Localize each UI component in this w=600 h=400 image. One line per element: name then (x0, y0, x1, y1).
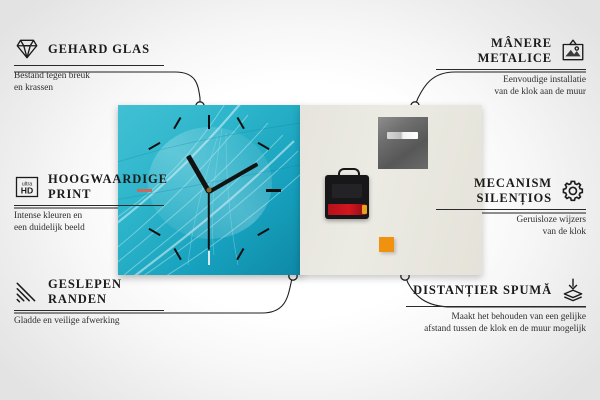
feature-body: Bestand tegen breuk en krassen (14, 70, 164, 95)
hanger-slot (387, 132, 418, 139)
clock-center-cap (207, 188, 212, 193)
battery (328, 204, 366, 215)
feature-hd-print: ultra HD HOOGWAARDIGE PRINT Intense kleu… (14, 172, 164, 234)
feature-body: Geruisloze wijzers van de klok (436, 214, 586, 239)
feature-title: MÂNERE METALICE (436, 36, 552, 66)
hanging-loop (338, 168, 360, 182)
feature-title: MECANISM SILENȚIOS (436, 176, 552, 206)
clock-second-hand (208, 192, 210, 250)
product-photo (118, 105, 482, 275)
divider (14, 310, 164, 311)
feature-foam-spacer: DISTANȚIER SPUMĂ Maakt het behouden van … (406, 277, 586, 336)
mechanism-dial (332, 184, 362, 198)
clock-tick (208, 251, 210, 265)
feature-body: Eenvoudige installatie van de klok aan d… (436, 74, 586, 99)
bevel-lines-icon (14, 279, 40, 305)
divider (436, 69, 586, 70)
feature-body: Maakt het behouden van een gelijke afsta… (406, 311, 586, 336)
press-down-icon (560, 277, 586, 303)
gear-icon (560, 178, 586, 204)
feature-title: GEHARD GLAS (48, 42, 150, 57)
ultra-hd-icon: ultra HD (14, 174, 40, 200)
feature-body: Gladde en veilige afwerking (14, 315, 164, 327)
picture-frame-icon (560, 38, 586, 64)
feature-title: GESLEPEN RANDEN (48, 277, 164, 307)
feature-silent-mechanism: MECANISM SILENȚIOS Geruisloze wijzers va… (436, 176, 586, 238)
divider (14, 205, 164, 206)
feature-title: DISTANȚIER SPUMĂ (413, 283, 552, 298)
foam-spacer (379, 237, 394, 252)
divider (406, 306, 586, 307)
clock-tick (266, 189, 281, 192)
divider (436, 209, 586, 210)
divider (14, 65, 164, 66)
clock-mechanism-box (325, 175, 369, 219)
feature-title: HOOGWAARDIGE PRINT (48, 172, 168, 202)
feature-tempered-glass: GEHARD GLAS Bestand tegen breuk en krass… (14, 36, 164, 95)
svg-text:HD: HD (21, 185, 33, 195)
feature-polished-edges: GESLEPEN RANDEN Gladde en veilige afwerk… (14, 277, 164, 327)
clock-tick (208, 115, 210, 129)
diamond-icon (14, 36, 40, 62)
feature-metal-handles: MÂNERE METALICE Eenvoudige installatie v… (436, 36, 586, 98)
infographic-canvas: GEHARD GLAS Bestand tegen breuk en krass… (0, 0, 600, 400)
feature-body: Intense kleuren en een duidelijk beeld (14, 210, 164, 235)
metal-hanger-plate (378, 117, 428, 169)
